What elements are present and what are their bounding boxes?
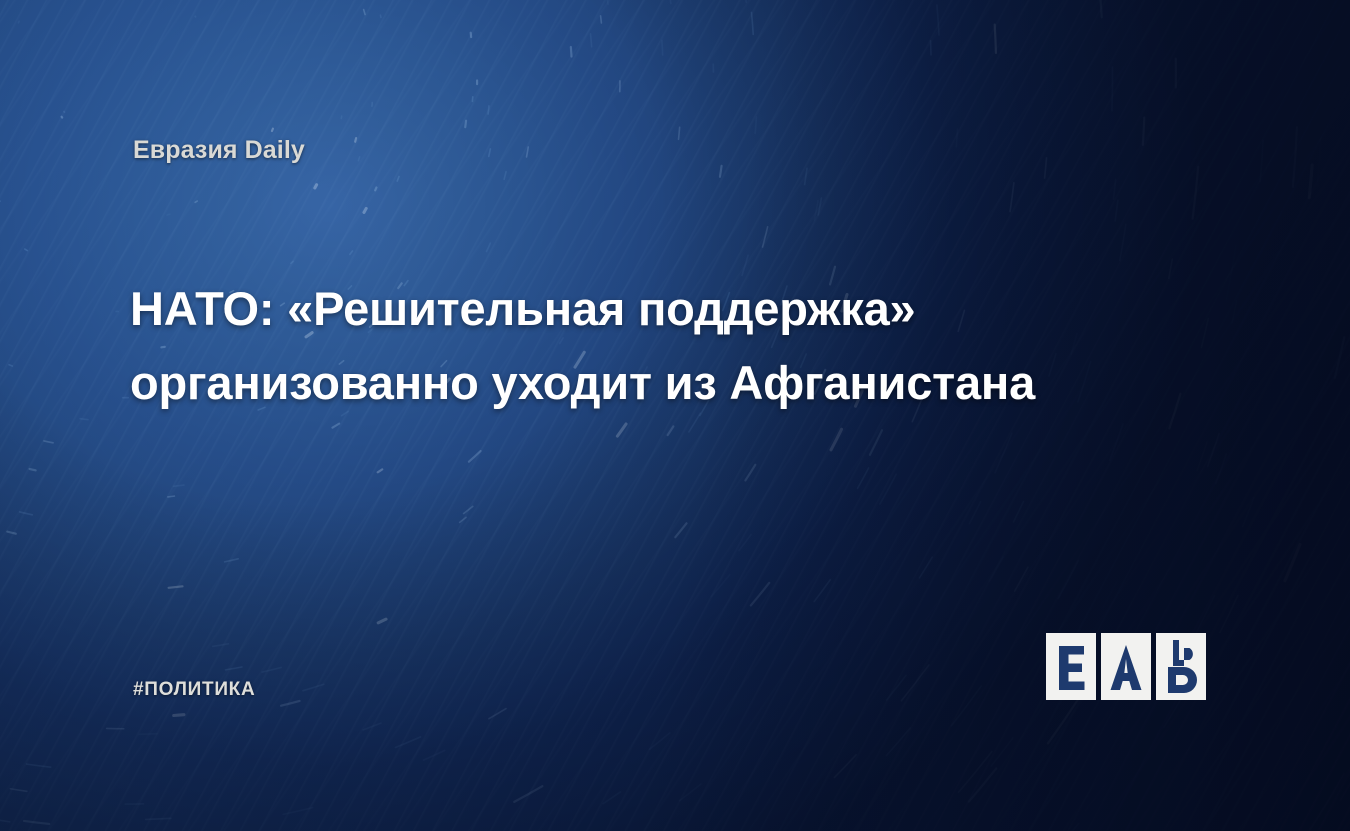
headline-line-1: НАТО: «Решительная поддержка» [130, 272, 1220, 346]
share-card: Евразия Daily НАТО: «Решительная поддерж… [0, 0, 1350, 831]
headline: НАТО: «Решительная поддержка» организова… [130, 272, 1220, 420]
eadaily-logo [1046, 633, 1206, 700]
headline-line-2: организованно уходит из Афганистана [130, 346, 1220, 420]
site-brand: Евразия Daily [133, 136, 305, 165]
logo-tile-d-mark [1156, 633, 1206, 700]
category-tag[interactable]: #ПОЛИТИКА [133, 679, 255, 701]
logo-tile-a [1101, 633, 1151, 700]
logo-tile-e [1046, 633, 1096, 700]
